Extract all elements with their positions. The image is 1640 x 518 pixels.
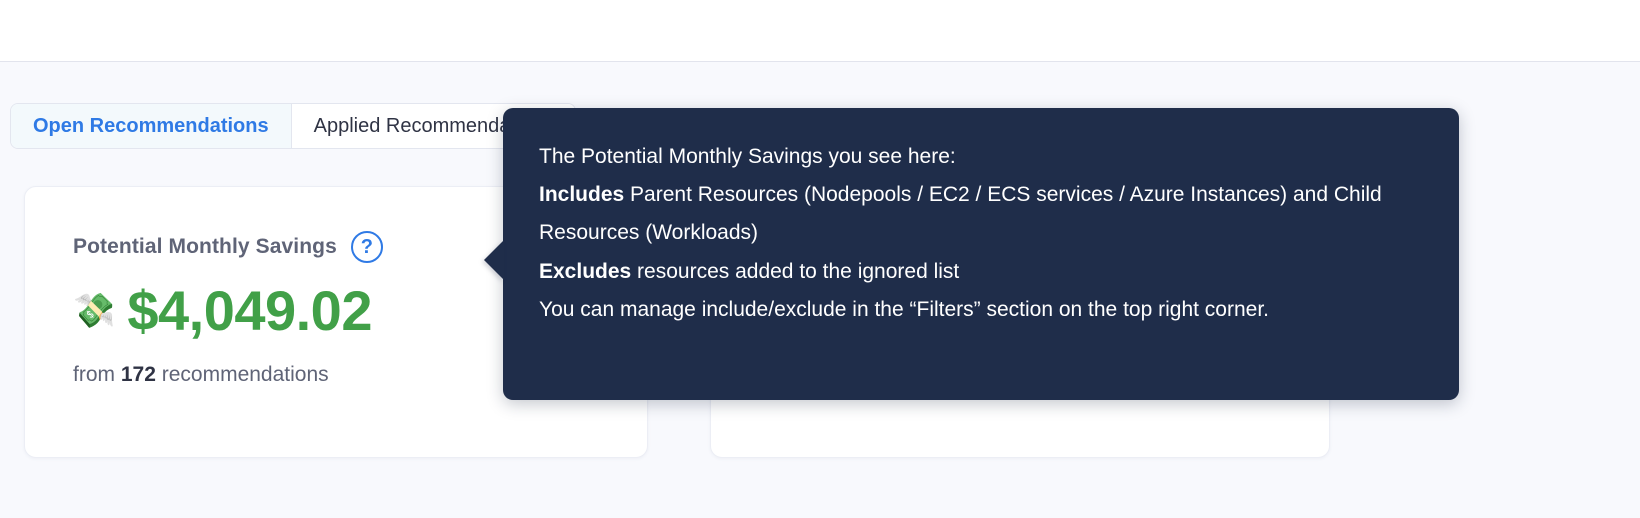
help-question-icon[interactable]: ? (351, 231, 383, 263)
tooltip-arrow-icon (484, 240, 504, 280)
app-header-bar (0, 0, 1640, 62)
tooltip-includes-text: Parent Resources (Nodepools / EC2 / ECS … (539, 183, 1382, 244)
savings-info-tooltip: The Potential Monthly Savings you see he… (503, 108, 1459, 400)
tooltip-excludes-label: Excludes (539, 260, 631, 283)
count-suffix-label: recommendations (156, 363, 329, 386)
tooltip-line-filters-hint: You can manage include/exclude in the “F… (539, 291, 1423, 329)
money-with-wings-icon: 💸 (73, 294, 115, 328)
savings-card-title: Potential Monthly Savings (73, 235, 337, 259)
tooltip-includes-label: Includes (539, 183, 624, 206)
count-prefix-label: from (73, 363, 121, 386)
tab-open-recommendations[interactable]: Open Recommendations (11, 104, 292, 148)
recommendation-count-value: 172 (121, 363, 156, 386)
tooltip-excludes-text: resources added to the ignored list (631, 260, 959, 283)
tooltip-line-intro: The Potential Monthly Savings you see he… (539, 138, 1423, 176)
tooltip-line-excludes: Excludes resources added to the ignored … (539, 253, 1423, 291)
recommendations-tab-group: Open Recommendations Applied Recommendat… (10, 103, 576, 149)
tooltip-line-includes: Includes Parent Resources (Nodepools / E… (539, 176, 1423, 252)
savings-amount-value: $4,049.02 (127, 283, 372, 339)
